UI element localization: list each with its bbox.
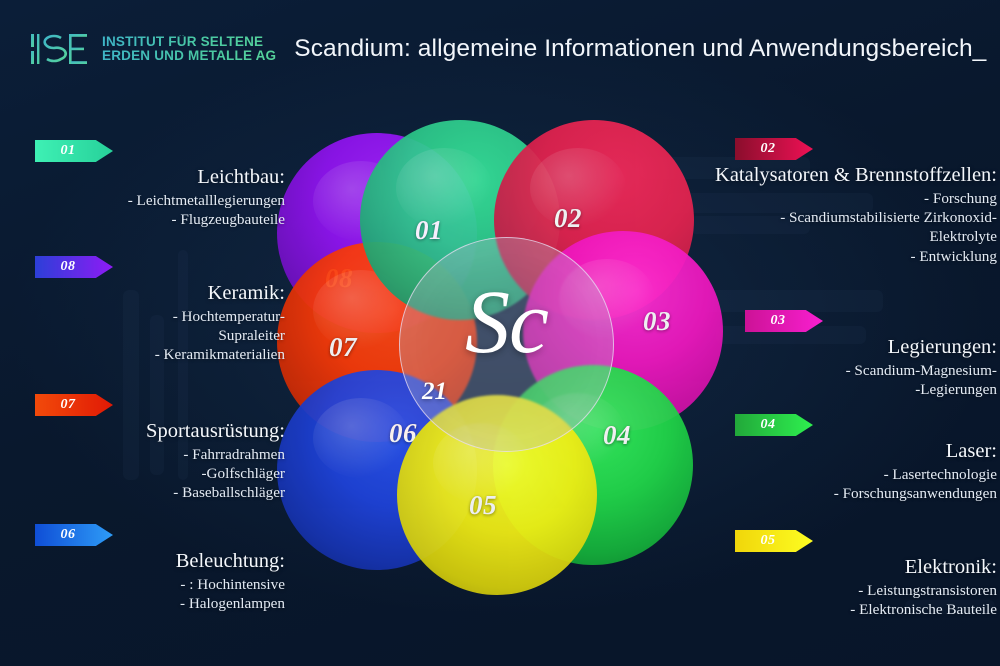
element-symbol: Sc: [400, 278, 613, 368]
info-item-02: 02 Katalysatoren & Brennstoffzellen: - F…: [705, 138, 997, 266]
badge-row: 02: [705, 138, 997, 164]
badge-04[interactable]: 04: [735, 414, 813, 436]
info-line: Supraleiter: [0, 326, 285, 345]
element-sphere-cluster: 08 07 06 01 02 03 04 05 Sc 21: [277, 120, 723, 570]
info-heading: Katalysatoren & Brennstoffzellen:: [705, 164, 997, 188]
badge-01[interactable]: 01: [35, 140, 113, 162]
badge-row: 07: [0, 394, 285, 420]
info-line: - : Hochintensive: [0, 575, 285, 594]
badge-row: 01: [0, 140, 285, 166]
info-line: - Halogenlampen: [0, 594, 285, 613]
info-line: - Leistungstransistoren: [705, 581, 997, 600]
info-item-08: 08 Keramik: - Hochtemperatur- Supraleite…: [0, 256, 285, 365]
badge-07[interactable]: 07: [35, 394, 113, 416]
info-line: - Forschungsanwendungen: [705, 484, 997, 503]
logo-line-1: INSTITUT FÜR SELTENE: [102, 35, 276, 49]
sphere-number: 05: [469, 490, 497, 521]
badge-08[interactable]: 08: [35, 256, 113, 278]
info-line: - Scandium-Magnesium-: [705, 361, 997, 380]
badge-row: 04: [705, 414, 997, 440]
info-line: - Scandiumstabilisierte Zirkonoxid-: [705, 208, 997, 227]
element-atomic-number: 21: [422, 378, 447, 406]
info-heading: Keramik:: [0, 282, 285, 306]
badge-row: 08: [0, 256, 285, 282]
info-heading: Legierungen:: [705, 336, 997, 360]
info-line: Elektrolyte: [705, 227, 997, 246]
sphere-number: 02: [554, 203, 582, 234]
element-core-circle: Sc 21: [399, 237, 614, 452]
info-line: - Forschung: [705, 189, 997, 208]
badge-06[interactable]: 06: [35, 524, 113, 546]
badge-02[interactable]: 02: [735, 138, 813, 160]
badge-row: 05: [705, 530, 997, 556]
info-item-03: 03 Legierungen: - Scandium-Magnesium- -L…: [705, 310, 997, 399]
info-line: - Entwicklung: [705, 247, 997, 266]
sphere-number: 03: [643, 306, 671, 337]
badge-03[interactable]: 03: [745, 310, 823, 332]
info-line: - Lasertechnologie: [705, 465, 997, 484]
info-line: - Keramikmaterialien: [0, 345, 285, 364]
badge-05[interactable]: 05: [735, 530, 813, 552]
sphere-number: 04: [603, 420, 631, 451]
company-logo: INSTITUT FÜR SELTENE ERDEN UND METALLE A…: [30, 32, 276, 66]
info-heading: Elektronik:: [705, 556, 997, 580]
info-line: - Baseballschläger: [0, 483, 285, 502]
header: INSTITUT FÜR SELTENE ERDEN UND METALLE A…: [0, 0, 1000, 98]
info-line: - Elektronische Bauteile: [705, 600, 997, 619]
info-line: - Flugzeugbauteile: [0, 210, 285, 229]
infographic-page: INSTITUT FÜR SELTENE ERDEN UND METALLE A…: [0, 0, 1000, 666]
info-item-01: 01 Leichtbau: - Leichtmetalllegierungen …: [0, 140, 285, 229]
info-line: -Legierungen: [705, 380, 997, 399]
info-line: - Fahrradrahmen: [0, 445, 285, 464]
info-line: -Golfschläger: [0, 464, 285, 483]
info-line: - Hochtemperatur-: [0, 307, 285, 326]
info-item-05: 05 Elektronik: - Leistungstransistoren -…: [705, 530, 997, 619]
info-item-06: 06 Beleuchtung: - : Hochintensive - Halo…: [0, 524, 285, 613]
info-heading: Sportausrüstung:: [0, 420, 285, 444]
ise-logo-icon: [30, 32, 93, 66]
info-item-04: 04 Laser: - Lasertechnologie - Forschung…: [705, 414, 997, 503]
logo-line-2: ERDEN UND METALLE AG: [102, 49, 276, 63]
sphere-number: 07: [329, 332, 357, 363]
info-heading: Laser:: [705, 440, 997, 464]
info-heading: Leichtbau:: [0, 166, 285, 190]
badge-row: 03: [705, 310, 997, 336]
info-item-07: 07 Sportausrüstung: - Fahrradrahmen -Gol…: [0, 394, 285, 503]
page-title: Scandium: allgemeine Informationen und A…: [294, 35, 986, 63]
sphere-number: 01: [415, 215, 443, 246]
info-line: - Leichtmetalllegierungen: [0, 191, 285, 210]
logo-text: INSTITUT FÜR SELTENE ERDEN UND METALLE A…: [102, 35, 276, 63]
badge-row: 06: [0, 524, 285, 550]
info-heading: Beleuchtung:: [0, 550, 285, 574]
